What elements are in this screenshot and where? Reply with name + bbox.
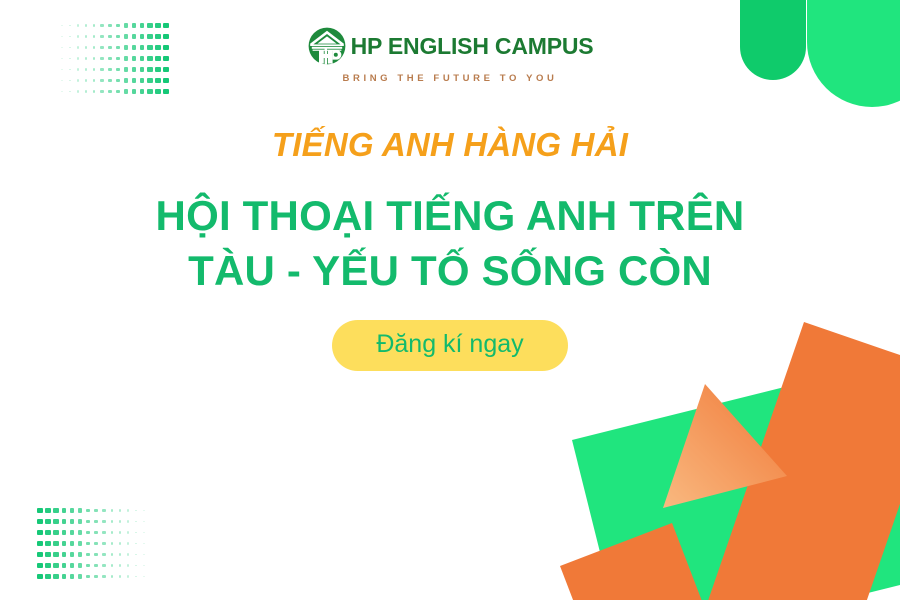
decor-dot [76,505,84,516]
decor-dot [124,527,132,538]
decor-dot [68,560,76,571]
decor-dot [132,527,140,538]
decor-dot [140,538,148,549]
decor-dot [116,505,124,516]
decor-dot [68,571,76,582]
decor-dot [124,505,132,516]
decor-dot [130,86,138,97]
decor-dot [84,549,92,560]
decor-dot [140,549,148,560]
decor-dot [66,86,74,97]
decor-dot [44,538,52,549]
decor-dot [52,505,60,516]
decor-dot [60,560,68,571]
decor-dot [74,86,82,97]
decor-dot [100,571,108,582]
decor-dot [76,527,84,538]
decor-dot [84,560,92,571]
decor-dot [90,86,98,97]
decor-dot [36,571,44,582]
decor-dot [108,527,116,538]
hp-campus-emblem-icon [307,26,347,66]
decor-dot [68,538,76,549]
decor-dot [68,516,76,527]
decor-dot [146,86,154,97]
decor-dot [132,571,140,582]
decor-dot [108,571,116,582]
decor-dot [108,560,116,571]
decor-dot [106,86,114,97]
decor-dot [36,549,44,560]
logo-row: HP ENGLISH CAMPUS [307,26,594,66]
decor-dot [36,516,44,527]
promo-banner: HP ENGLISH CAMPUS BRING THE FUTURE TO YO… [0,0,900,600]
decor-dot [52,516,60,527]
decor-dot [60,516,68,527]
decor-dot [82,86,90,97]
register-now-button[interactable]: Đăng kí ngay [332,320,567,371]
decor-dot [68,527,76,538]
decor-dot [116,527,124,538]
decor-dot [124,516,132,527]
decor-dot [140,505,148,516]
decor-dot [124,560,132,571]
decor-dot [36,505,44,516]
decor-dot [60,527,68,538]
headline-line-1: HỘI THOẠI TIẾNG ANH TRÊN [156,192,745,239]
decor-dot [100,560,108,571]
decor-dot [124,571,132,582]
eyebrow-text: TIẾNG ANH HÀNG HẢI [272,125,628,165]
decor-dot [44,527,52,538]
logo-tagline: BRING THE FUTURE TO YOU [343,73,558,84]
decor-dot [92,549,100,560]
decor-dot [116,571,124,582]
decor-dot [138,86,146,97]
decor-dot [84,571,92,582]
decor-dot [132,560,140,571]
decor-dot [68,505,76,516]
decor-dot [108,538,116,549]
decor-dot [132,538,140,549]
decor-dot [60,549,68,560]
decor-dot [116,549,124,560]
decor-dot [44,505,52,516]
decor-dot [122,86,130,97]
decor-dot [76,571,84,582]
decor-dot [140,516,148,527]
decor-dot [92,516,100,527]
decor-dot [100,527,108,538]
decor-dot [52,560,60,571]
decor-orange-fold [655,380,825,520]
decor-dot [68,549,76,560]
decor-dot [114,86,122,97]
decor-dot [124,549,132,560]
decor-dot [100,538,108,549]
decor-dot [140,560,148,571]
decor-dot [60,571,68,582]
decor-dot [84,527,92,538]
decor-dot [36,527,44,538]
decor-dot [100,549,108,560]
decor-dot [116,560,124,571]
decor-dot [108,516,116,527]
decor-dot [132,516,140,527]
decor-dot [44,571,52,582]
decor-dot [36,560,44,571]
decor-dot [116,538,124,549]
decor-dot [92,527,100,538]
brand-logo: HP ENGLISH CAMPUS BRING THE FUTURE TO YO… [0,26,900,84]
decor-dot [162,86,170,97]
headline-line-2: TÀU - YẾU TỐ SỐNG CÒN [188,247,712,294]
decor-dot [92,560,100,571]
decor-dot [132,505,140,516]
decor-dot [44,516,52,527]
decor-dot [92,538,100,549]
decor-dot [140,571,148,582]
decor-dot [52,549,60,560]
content-block: TIẾNG ANH HÀNG HẢI HỘI THOẠI TIẾNG ANH T… [0,125,900,371]
decor-dot [36,538,44,549]
decor-dot [52,538,60,549]
decor-dot [92,571,100,582]
decor-dot [124,538,132,549]
decor-dot [76,549,84,560]
decor-dot [76,560,84,571]
decor-dot [58,86,66,97]
decor-dot [84,516,92,527]
decor-dot [108,505,116,516]
decor-dot [52,571,60,582]
decor-dot [76,516,84,527]
decor-dot [92,505,100,516]
decor-dot [44,560,52,571]
decor-dot [52,527,60,538]
decor-dot [60,538,68,549]
logo-wordmark: HP ENGLISH CAMPUS [351,35,594,58]
decor-dot [76,538,84,549]
decor-dot [98,86,106,97]
decor-dot [100,516,108,527]
decor-dot [140,527,148,538]
decor-dot [44,549,52,560]
decor-dot [154,86,162,97]
decor-dot [116,516,124,527]
decor-dot [84,505,92,516]
decor-dot [132,549,140,560]
decor-dot [60,505,68,516]
decor-dot [100,505,108,516]
page-title: HỘI THOẠI TIẾNG ANH TRÊN TÀU - YẾU TỐ SỐ… [156,188,745,299]
decor-dot-grid-bottom-left [36,505,148,582]
decor-dot [108,549,116,560]
decor-dot [84,538,92,549]
